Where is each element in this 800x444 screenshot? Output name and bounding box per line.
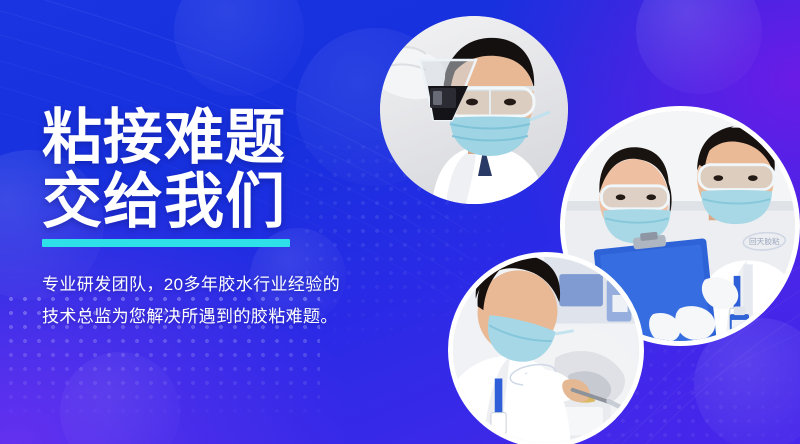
- photo-researcher-beaker: [380, 16, 568, 204]
- svg-text:回天胶粘: 回天胶粘: [749, 236, 780, 246]
- headline-line-2: 交给我们: [42, 170, 372, 234]
- decorative-circle: [60, 352, 180, 444]
- subtitle-line-1: 专业研发团队，20多年胶水行业经验的: [42, 269, 372, 301]
- decorative-circle: [636, 0, 762, 94]
- photo-technician-glue: 回天: [448, 252, 644, 444]
- decorative-circle: [174, 0, 304, 96]
- headline-block: 粘接难题 交给我们 专业研发团队，20多年胶水行业经验的 技术总监为您解决所遇到…: [42, 106, 372, 333]
- headline-line-1: 粘接难题: [42, 106, 372, 170]
- promo-banner: 粘接难题 交给我们 专业研发团队，20多年胶水行业经验的 技术总监为您解决所遇到…: [0, 0, 800, 444]
- subtitle-line-2: 技术总监为您解决所遇到的胶粘难题。: [42, 301, 372, 333]
- headline-underline-bar: [42, 239, 290, 247]
